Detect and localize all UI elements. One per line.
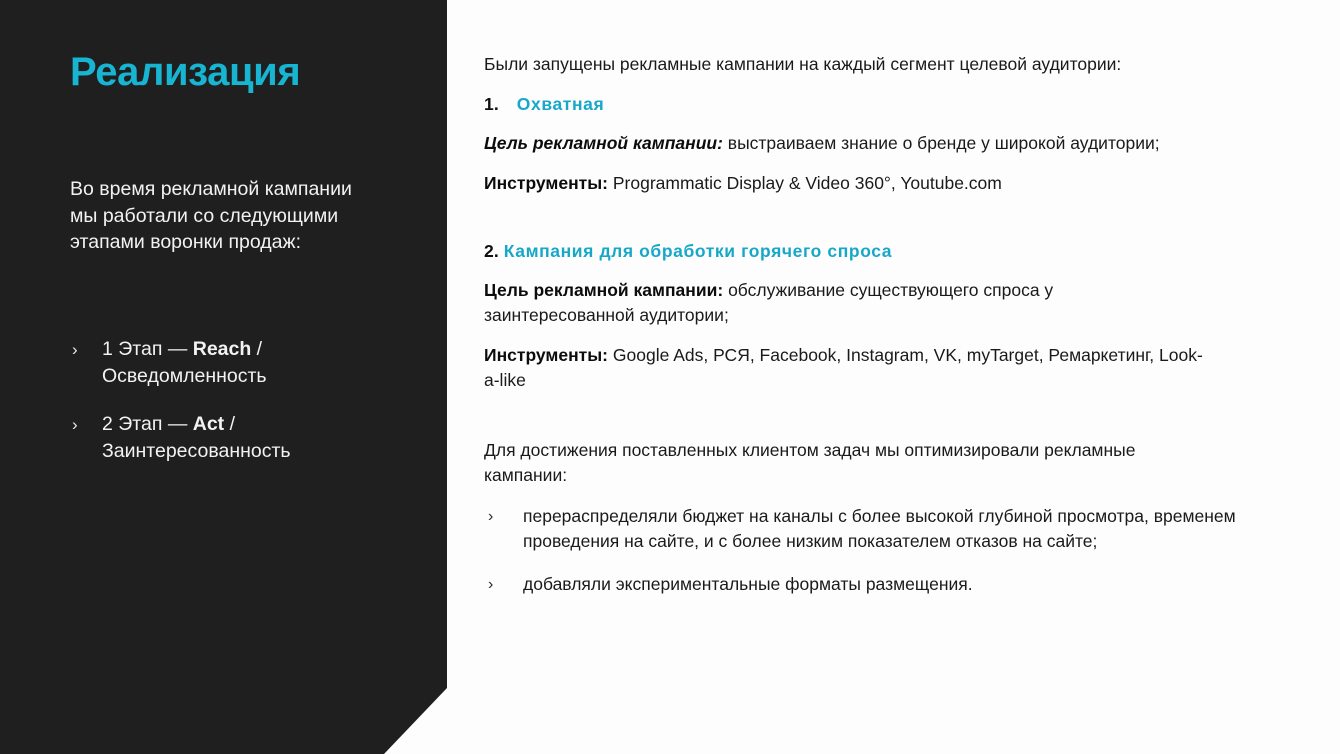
list-item: › 1 Этап — Reach / Осведомленность [70, 336, 400, 390]
list-item: › перераспределяли бюджет на каналы с бо… [484, 504, 1283, 554]
section-title: Кампания для обработки горячего спроса [504, 241, 892, 261]
chevron-right-icon: › [72, 336, 78, 363]
list-item: › добавляли экспериментальные форматы ра… [484, 572, 1283, 597]
funnel-stage-list: › 1 Этап — Reach / Осведомленность › 2 Э… [70, 336, 400, 486]
section-1-goal: Цель рекламной кампании: выстраиваем зна… [484, 131, 1284, 156]
section-1-tools: Инструменты: Programmatic Display & Vide… [484, 171, 1284, 196]
section-heading-2: 2. Кампания для обработки горячего спрос… [484, 241, 1284, 262]
stage-strong: Reach [193, 338, 252, 360]
section-2-goal: Цель рекламной кампании: обслуживание су… [484, 278, 1124, 328]
goal-label: Цель рекламной кампании: [484, 133, 723, 153]
section-2-tools: Инструменты: Google Ads, РСЯ, Facebook, … [484, 343, 1214, 393]
tools-label: Инструменты: [484, 173, 608, 193]
stage-prefix: 1 Этап — [102, 338, 193, 360]
section-heading-1: 1.Охватная [484, 94, 1284, 115]
list-item-label: добавляли экспериментальные форматы разм… [523, 574, 973, 594]
panel-intro-text: Во время рекламной кампании мы работали … [70, 176, 370, 256]
optimization-intro: Для достижения поставленных клиентом зад… [484, 438, 1204, 488]
page-title: Реализация [70, 50, 300, 94]
section-number: 1. [484, 94, 499, 114]
goal-label: Цель рекламной кампании: [484, 280, 723, 300]
stage-strong: Act [193, 413, 224, 435]
chevron-right-icon: › [488, 504, 493, 529]
spacer [484, 211, 1284, 241]
section-number: 2. [484, 241, 499, 261]
main-content: Были запущены рекламные кампании на кажд… [484, 52, 1284, 615]
optimization-list: › перераспределяли бюджет на каналы с бо… [484, 504, 1284, 597]
spacer [484, 408, 1284, 438]
chevron-right-icon: › [72, 411, 78, 438]
list-item-label: перераспределяли бюджет на каналы с боле… [523, 506, 1236, 551]
stage-prefix: 2 Этап — [102, 413, 193, 435]
list-item: › 2 Этап — Act / Заинтересованность [70, 411, 400, 465]
goal-text: выстраиваем знание о бренде у широкой ау… [723, 133, 1160, 153]
tools-label: Инструменты: [484, 345, 608, 365]
slide-root: Реализация Во время рекламной кампании м… [0, 0, 1340, 754]
section-title: Охватная [517, 94, 605, 114]
chevron-right-icon: › [488, 572, 493, 597]
lead-paragraph: Были запущены рекламные кампании на кажд… [484, 52, 1284, 76]
tools-text: Programmatic Display & Video 360°, Youtu… [608, 173, 1002, 193]
